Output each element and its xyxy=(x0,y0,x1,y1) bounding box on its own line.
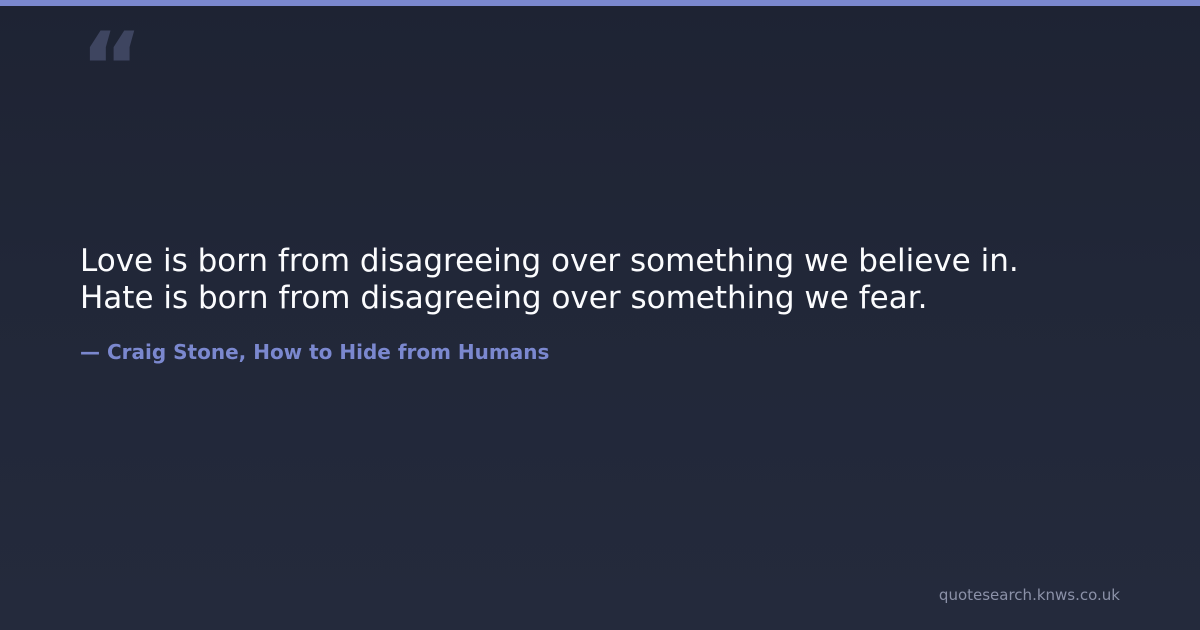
quote-attribution: — Craig Stone, How to Hide from Humans xyxy=(80,339,549,366)
top-accent-bar xyxy=(0,0,1200,6)
quote-text: Love is born from disagreeing over somet… xyxy=(80,243,1120,317)
source-website-url: quotesearch.knws.co.uk xyxy=(939,585,1120,605)
opening-quotation-mark-icon: “ xyxy=(80,20,141,116)
quote-body: Love is born from disagreeing over somet… xyxy=(80,243,1120,317)
quote-card: “ Love is born from disagreeing over som… xyxy=(0,0,1200,630)
